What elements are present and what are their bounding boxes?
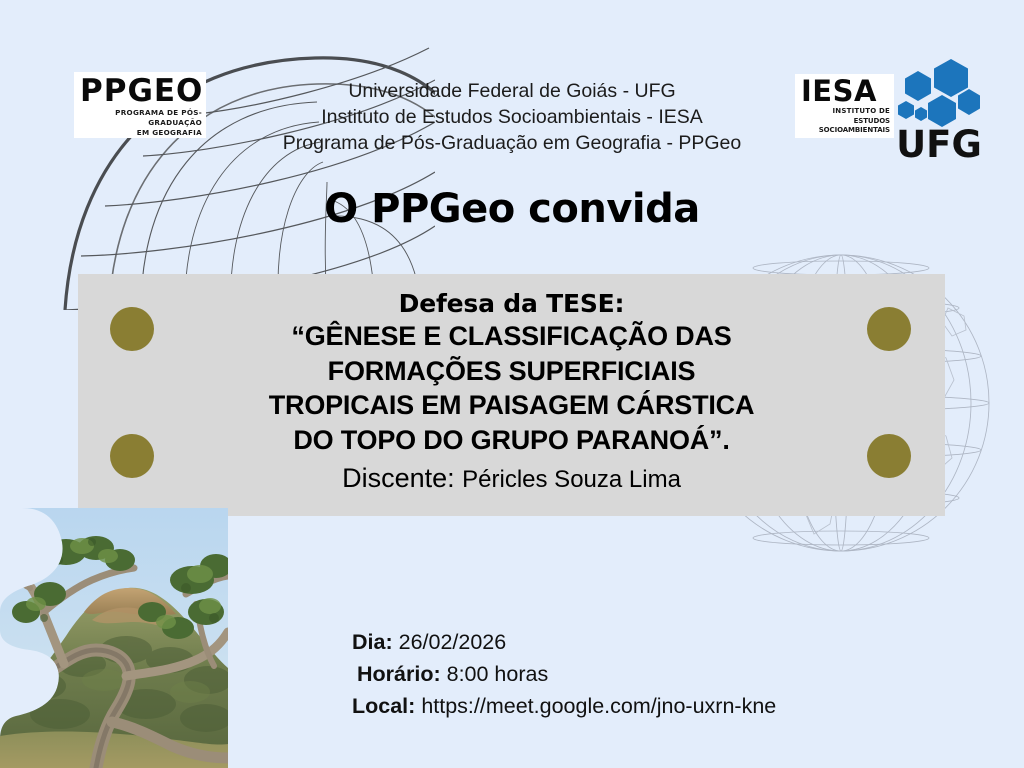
event-details: Dia: 26/02/2026 Horário: 8:00 horas Loca… <box>352 626 776 722</box>
thesis-title-line-3: TROPICAIS EM PAISAGEM CÁRSTICA <box>78 388 945 423</box>
thesis-panel-text: Defesa da TESE: “GÊNESE E CLASSIFICAÇÃO … <box>78 288 945 497</box>
thesis-title-line-4: DO TOPO DO GRUPO PARANOÁ”. <box>78 423 945 458</box>
thesis-title-line-1: “GÊNESE E CLASSIFICAÇÃO DAS <box>78 319 945 354</box>
ufg-logo-wordmark: UFG <box>893 125 985 165</box>
iesa-logo-subtitle-2: ESTUDOS SOCIOAMBIENTAIS <box>801 117 890 136</box>
detail-row-location: Local: https://meet.google.com/jno-uxrn-… <box>352 690 776 722</box>
time-value: 8:00 horas <box>447 662 549 686</box>
header-line-program: Programa de Pós-Graduação em Geografia -… <box>212 130 812 156</box>
cerrado-photo <box>0 508 228 768</box>
ppgeo-logo-subtitle-1: PROGRAMA DE PÓS-GRADUAÇÃO <box>80 108 202 128</box>
student-row: Discente: Péricles Souza Lima <box>78 461 945 497</box>
thesis-title-line-2: FORMAÇÕES SUPERFICIAIS <box>78 354 945 389</box>
location-value[interactable]: https://meet.google.com/jno-uxrn-kne <box>421 694 776 718</box>
institution-header: Universidade Federal de Goiás - UFG Inst… <box>212 78 812 156</box>
date-value: 26/02/2026 <box>399 630 507 654</box>
ppgeo-logo: PPGEO PROGRAMA DE PÓS-GRADUAÇÃO EM GEOGR… <box>74 72 206 138</box>
detail-row-time: Horário: 8:00 horas <box>352 658 776 690</box>
globe-wireframe-left-icon <box>55 10 435 310</box>
iesa-logo-subtitle-1: INSTITUTO DE <box>801 107 890 117</box>
page-title: O PPGeo convida <box>112 186 912 232</box>
student-name: Péricles Souza Lima <box>462 466 681 493</box>
date-label: Dia: <box>352 630 393 654</box>
ufg-hexagons-icon <box>893 57 985 127</box>
location-label: Local: <box>352 694 415 718</box>
student-label: Discente: <box>342 463 455 493</box>
time-label: Horário: <box>357 662 441 686</box>
ppgeo-logo-wordmark: PPGEO <box>80 74 202 108</box>
ufg-logo: UFG <box>893 57 985 165</box>
header-line-institute: Instituto de Estudos Socioambientais - I… <box>212 104 812 130</box>
invitation-poster: PPGEO PROGRAMA DE PÓS-GRADUAÇÃO EM GEOGR… <box>0 0 1024 768</box>
header-line-university: Universidade Federal de Goiás - UFG <box>212 78 812 104</box>
cerrado-photo-image <box>0 508 228 768</box>
iesa-logo-wordmark: IESA <box>801 75 890 107</box>
thesis-panel: Defesa da TESE: “GÊNESE E CLASSIFICAÇÃO … <box>78 274 945 516</box>
ppgeo-logo-subtitle-2: EM GEOGRAFIA <box>80 128 202 138</box>
detail-row-date: Dia: 26/02/2026 <box>352 626 776 658</box>
defense-type-label: Defesa da TESE: <box>78 288 945 319</box>
